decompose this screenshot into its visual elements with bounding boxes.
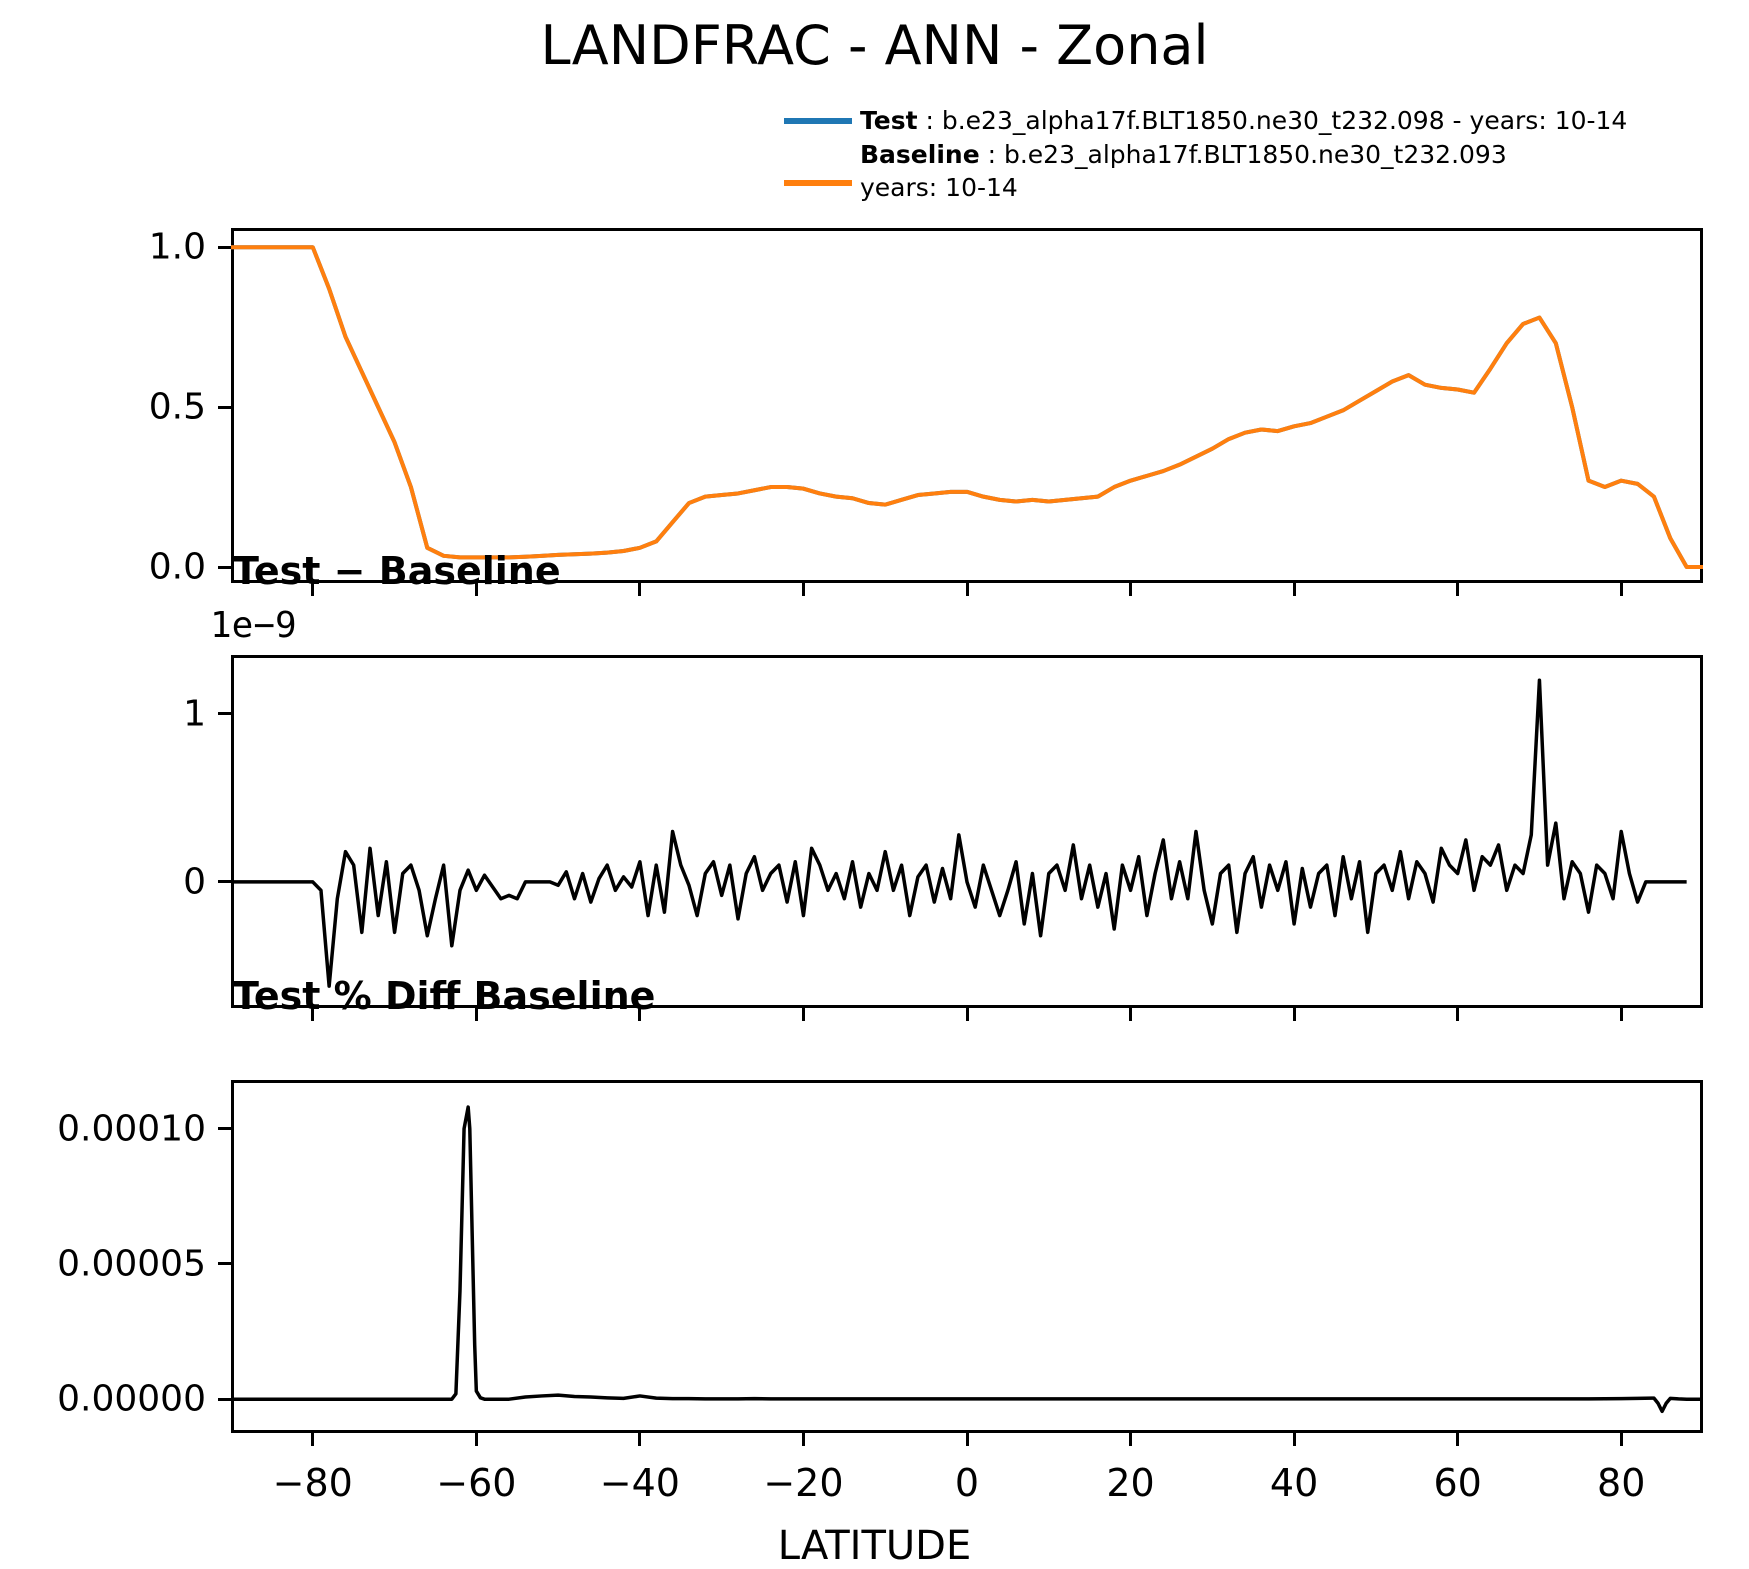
- x-tick-mark: [638, 1433, 641, 1446]
- y-tick-mark: [218, 1398, 231, 1401]
- x-tick-label: 40: [1270, 1461, 1318, 1505]
- x-tick-mark: [311, 1433, 314, 1446]
- series-line: [231, 1107, 1703, 1411]
- x-tick-mark: [802, 1433, 805, 1446]
- plot-lines: [0, 0, 1749, 1496]
- y-tick-label: 0.00000: [1, 1379, 206, 1420]
- x-tick-label: 80: [1597, 1461, 1645, 1505]
- y-tick-mark: [218, 1127, 231, 1130]
- y-offset-label-middle: 1e−9: [210, 605, 297, 646]
- x-tick-label: 60: [1433, 1461, 1481, 1505]
- x-tick-label: 0: [955, 1461, 979, 1505]
- y-tick-mark: [218, 1262, 231, 1265]
- caption-test-pct-diff-baseline: Test % Diff Baseline: [233, 974, 655, 1018]
- x-tick-label: 20: [1106, 1461, 1154, 1505]
- x-tick-label: −20: [763, 1461, 843, 1505]
- x-axis-title: LATITUDE: [0, 1523, 1749, 1569]
- panel-percent-diff: 0.000000.000050.00010−80−60−40−200204060…: [0, 0, 1749, 1496]
- x-tick-mark: [1620, 1433, 1623, 1446]
- x-tick-label: −40: [600, 1461, 680, 1505]
- x-tick-mark: [966, 1433, 969, 1446]
- caption-test-minus-baseline: Test − Baseline: [233, 549, 561, 593]
- x-tick-mark: [1293, 1433, 1296, 1446]
- y-tick-label: 0.00005: [1, 1243, 206, 1284]
- x-tick-mark: [1456, 1433, 1459, 1446]
- y-tick-label: 0.00010: [1, 1108, 206, 1149]
- x-tick-label: −60: [436, 1461, 516, 1505]
- x-tick-mark: [1129, 1433, 1132, 1446]
- figure-canvas: LANDFRAC - ANN - Zonal Test : b.e23_alph…: [0, 0, 1749, 1496]
- x-tick-label: −80: [273, 1461, 353, 1505]
- x-tick-mark: [475, 1433, 478, 1446]
